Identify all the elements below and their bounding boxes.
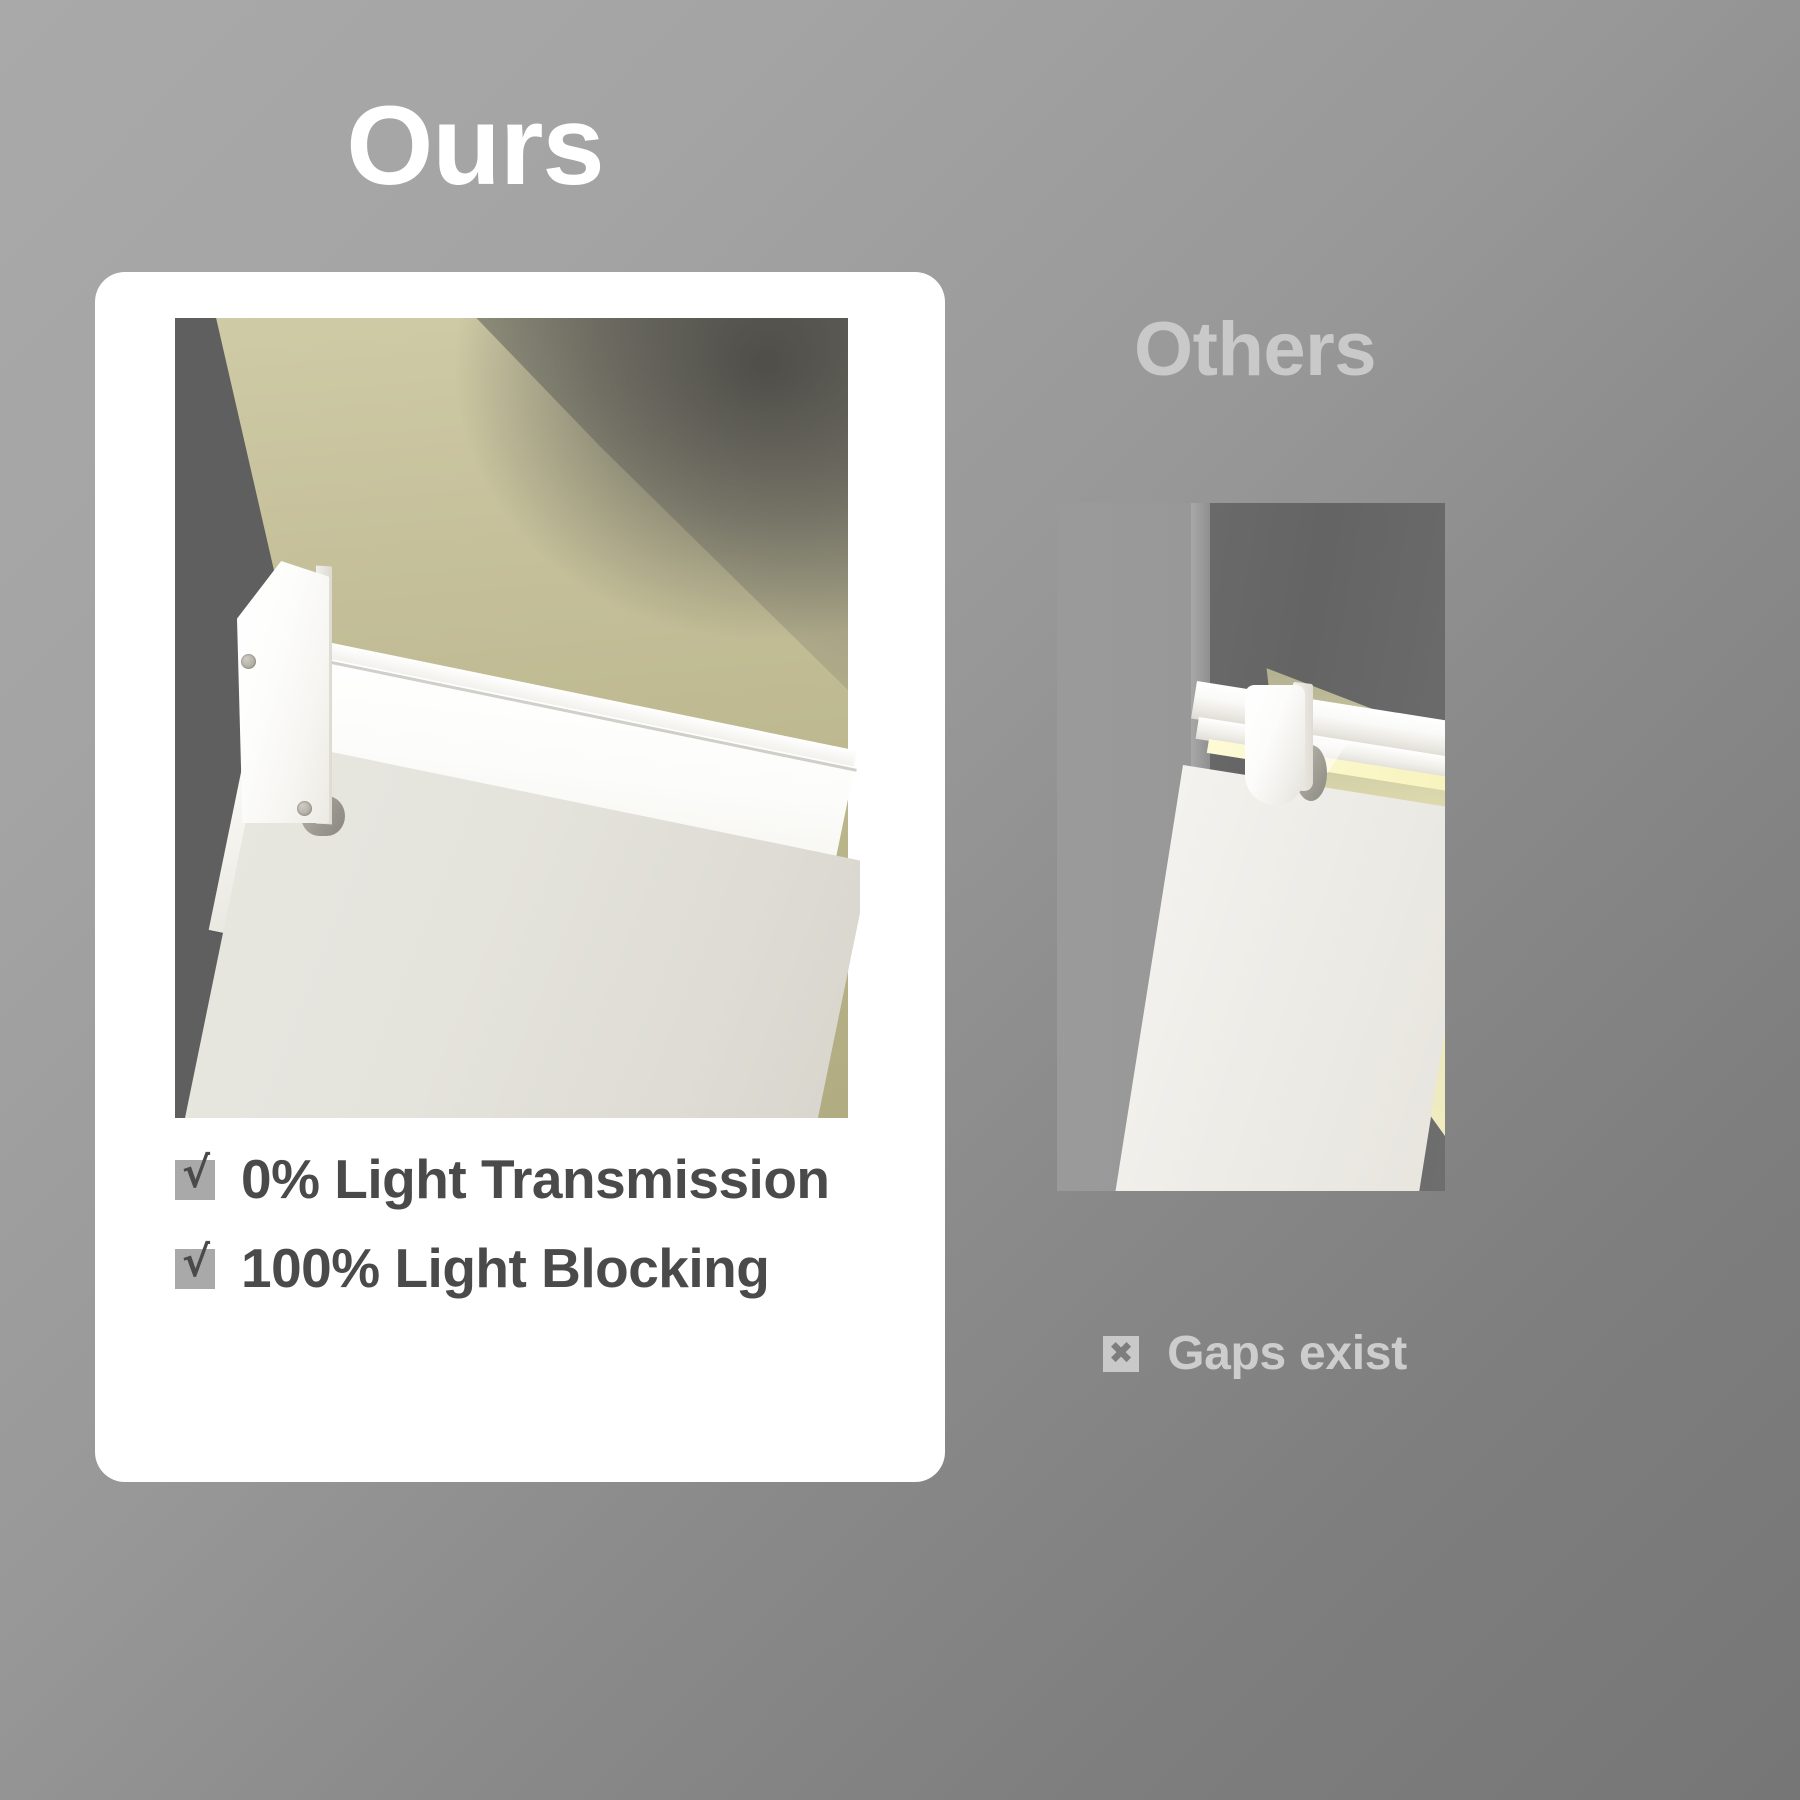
comparison-infographic: Ours √ 0% Light Transm	[0, 0, 1800, 1800]
cross-icon-glyph: ✖	[1109, 1339, 1134, 1369]
others-callout: ✖ Gaps exist	[1060, 1330, 1450, 1378]
others-title: Others	[1060, 312, 1450, 388]
ours-feature-list: √ 0% Light Transmission √ 100% Light Blo…	[175, 1152, 875, 1330]
ours-product-photo	[175, 318, 860, 1118]
check-icon-glyph: √	[182, 1241, 210, 1283]
feature-item: √ 100% Light Blocking	[175, 1241, 875, 1296]
bracket-screw-top	[241, 654, 256, 669]
check-icon-glyph: √	[182, 1152, 210, 1194]
ours-title: Ours	[0, 90, 950, 202]
check-icon: √	[175, 1249, 215, 1289]
others-callout-label: Gaps exist	[1167, 1330, 1407, 1378]
feature-label: 100% Light Blocking	[241, 1241, 769, 1296]
bracket-screw-bottom	[297, 801, 312, 816]
feature-item: √ 0% Light Transmission	[175, 1152, 875, 1207]
feature-label: 0% Light Transmission	[241, 1152, 830, 1207]
others-mounting-bracket	[1245, 685, 1305, 805]
check-icon: √	[175, 1160, 215, 1200]
photo-right-highlight	[848, 318, 860, 1118]
ours-card: √ 0% Light Transmission √ 100% Light Blo…	[95, 272, 945, 1482]
others-product-photo	[1057, 503, 1445, 1191]
cross-icon: ✖	[1103, 1336, 1139, 1372]
